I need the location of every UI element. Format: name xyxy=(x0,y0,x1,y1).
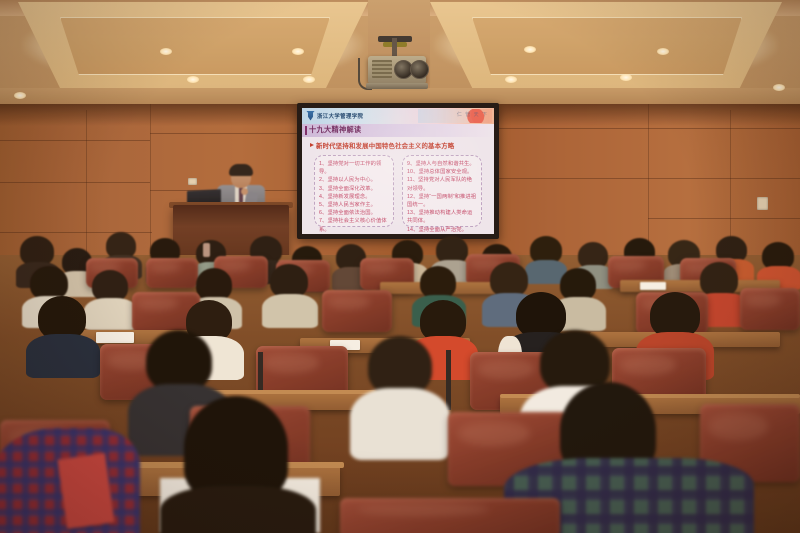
slide-list-item: 5、坚持人民当家作主。 xyxy=(318,201,390,209)
ceiling-downlight xyxy=(524,46,536,53)
burgundy-leather-chair xyxy=(322,290,392,332)
slide-list-item: 6、坚持全面依法治国。 xyxy=(318,209,390,217)
wall-seam-vertical xyxy=(86,110,87,260)
wall-outlet-plate xyxy=(757,197,768,210)
burgundy-leather-chair xyxy=(740,288,800,330)
slide-list-item: 11、坚持党对人民军队的绝对领导。 xyxy=(406,176,478,192)
ceiling-downlight xyxy=(773,84,785,91)
wall-corner-right xyxy=(648,104,649,254)
slide-title-marker xyxy=(305,126,307,135)
handout-paper xyxy=(96,332,134,343)
slide-list-item: 3、坚持全面深化改革。 xyxy=(318,185,390,193)
ceiling-downlight xyxy=(187,76,199,83)
ceiling-inner-frame-right xyxy=(472,17,742,75)
slide-list-item: 12、坚持“一国两制”和推进祖国统一。 xyxy=(406,193,478,209)
ceiling-downlight xyxy=(505,76,517,83)
slide-title: 十九大精神解读 xyxy=(309,125,361,135)
handout-paper xyxy=(640,282,666,290)
ceiling-downlight xyxy=(14,92,26,99)
slide-list-box-right: 9、坚持人与自然和谐共生。10、坚持总体国家安全观。11、坚持党对人民军队的绝对… xyxy=(402,155,482,227)
projector-mount-pole xyxy=(392,38,397,58)
wall-seam xyxy=(150,133,310,134)
projector-base xyxy=(366,83,428,89)
slide-list-box-left: 1、坚持党对一切工作的领导。2、坚持以人民为中心。3、坚持全面深化改革。4、坚持… xyxy=(314,155,394,227)
slide-banner-watermark: 仁 管 天 下 xyxy=(457,111,488,118)
ceiling-downlight xyxy=(657,48,669,55)
slide-logo: 浙江大学管理学院 xyxy=(306,111,363,121)
ceiling-downlight xyxy=(292,48,304,55)
wall-seam xyxy=(648,218,800,219)
slide-list-item: 13、坚持推动构建人类命运共同体。 xyxy=(406,209,478,225)
burgundy-leather-chair xyxy=(146,258,198,288)
wall-seam xyxy=(0,182,150,183)
lecture-hall-photo: 浙江大学管理学院 仁 管 天 下 十九大精神解读 新时代坚持和发展中国特色社会主… xyxy=(0,0,800,533)
slide-list-item: 10、坚持总体国家安全观。 xyxy=(406,168,478,176)
water-bottle xyxy=(203,243,210,257)
slide-list-item: 1、坚持党对一切工作的领导。 xyxy=(318,160,390,176)
projection-screen: 浙江大学管理学院 仁 管 天 下 十九大精神解读 新时代坚持和发展中国特色社会主… xyxy=(297,103,499,239)
slide-list-item: 4、坚持新发展理念。 xyxy=(318,193,390,201)
projector-vent-grille xyxy=(372,60,392,78)
presenter-hand xyxy=(241,188,248,195)
wall-seam xyxy=(499,128,800,129)
slide-list-item: 14、坚持全面从严治党。 xyxy=(406,226,478,234)
slide-logo-text: 浙江大学管理学院 xyxy=(317,111,363,119)
slide-list-item: 7、坚持社会主义核心价值体系。 xyxy=(318,217,390,233)
ceiling-inner-frame-left xyxy=(60,17,330,75)
slide-list-item: 9、坚持人与自然和谐共生。 xyxy=(406,160,478,168)
slide-banner: 浙江大学管理学院 仁 管 天 下 xyxy=(302,108,494,124)
slide-subtitle: 新时代坚持和发展中国特色社会主义的基本方略 xyxy=(316,141,454,150)
burgundy-leather-chair xyxy=(340,498,560,533)
slide-surface: 浙江大学管理学院 仁 管 天 下 十九大精神解读 新时代坚持和发展中国特色社会主… xyxy=(302,108,494,234)
ceiling-downlight xyxy=(160,48,172,55)
ceiling-downlight xyxy=(620,74,632,81)
ceiling-downlight xyxy=(303,76,315,83)
wall-seam xyxy=(499,178,800,179)
presenter-hair xyxy=(229,164,253,176)
projector-lens xyxy=(410,60,429,79)
wall-outlet-plate xyxy=(188,178,197,185)
wall-corner-left xyxy=(150,104,151,254)
slide-subtitle-bullet-icon xyxy=(310,143,314,147)
desk-leg xyxy=(446,350,451,410)
university-crest-icon xyxy=(306,111,315,121)
wall-seam xyxy=(0,140,150,141)
wall-seam xyxy=(0,232,152,233)
slide-list-item: 2、坚持以人民为中心。 xyxy=(318,176,390,184)
red-folder xyxy=(57,453,114,529)
